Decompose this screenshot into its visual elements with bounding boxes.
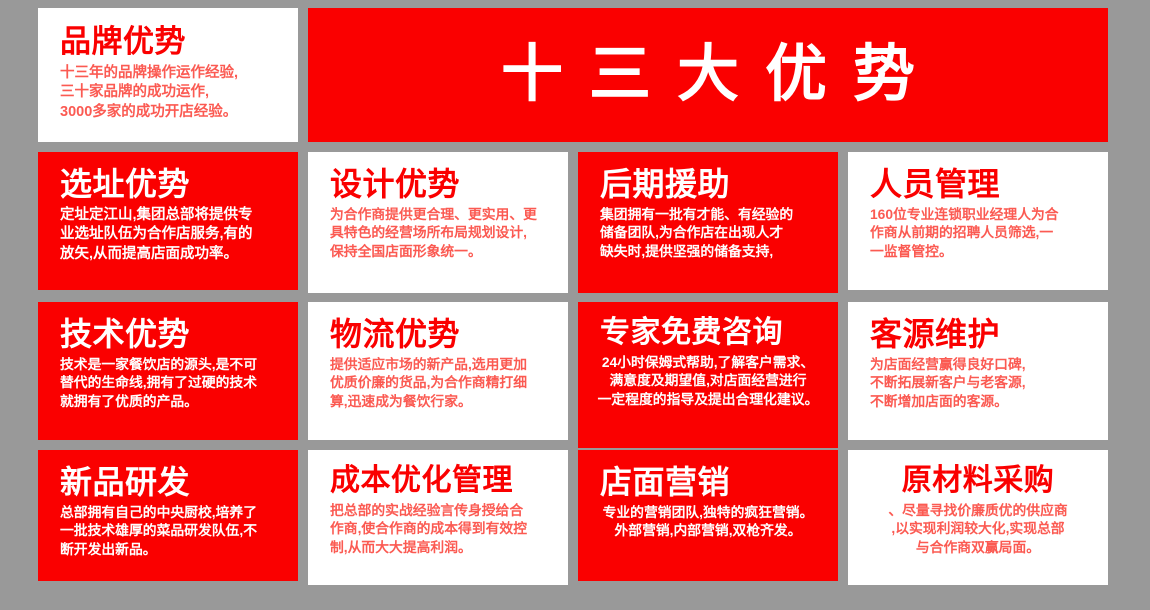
card-body: 集团拥有一批有才能、有经验的 储备团队,为合作店在出现人才 缺失时,提供坚强的储… [578,200,838,261]
card-body: 专业的营销团队,独特的疯狂营销。 外部营销,内部营销,双枪齐发。 [578,498,838,541]
main-banner: 十三大优势 [308,8,1108,142]
card-design-advantage: 设计优势 为合作商提供更合理、更实用、更 具特色的经营场所布局规划设计, 保持全… [308,152,568,293]
card-title: 成本优化管理 [308,450,568,496]
card-brand-advantage: 品牌优势 十三年的品牌操作运作经验, 三十家品牌的成功运作, 3000多家的成功… [38,8,298,142]
card-title: 技术优势 [38,302,298,350]
card-customer-retention: 客源维护 为店面经营赢得良好口碑, 不断拓展新客户与老客源, 不断增加店面的客源… [848,302,1108,440]
card-title: 后期援助 [578,152,838,200]
card-body: 总部拥有自己的中央厨校,培养了 一批技术雄厚的菜品研发队伍,不 断开发出新品。 [38,498,298,559]
card-store-marketing: 店面营销 专业的营销团队,独特的疯狂营销。 外部营销,内部营销,双枪齐发。 [578,450,838,581]
card-title: 店面营销 [578,450,838,498]
card-title: 原材料采购 [848,450,1108,496]
card-body: 为店面经营赢得良好口碑, 不断拓展新客户与老客源, 不断增加店面的客源。 [848,350,1108,411]
card-title: 专家免费咨询 [578,302,838,348]
card-body: 160位专业连锁职业经理人为合 作商从前期的招聘人员筛选,一 一监督管控。 [848,200,1108,261]
card-body: 24小时保姆式帮助,了解客户需求、 满意度及期望值,对店面经营进行 一定程度的指… [578,348,838,409]
card-title: 选址优势 [38,152,298,200]
card-body: 把总部的实战经验言传身授给合 作商,使合作商的成本得到有效控 制,从而大大提高利… [308,496,568,557]
card-title: 品牌优势 [38,8,298,57]
card-title: 新品研发 [38,450,298,498]
card-raw-material-procurement: 原材料采购 、尽量寻找价廉质优的供应商 ,以实现利润较大化,实现总部 与合作商双… [848,450,1108,585]
card-body: 技术是一家餐饮店的源头,是不可 替代的生命线,拥有了过硬的技术 就拥有了优质的产… [38,350,298,411]
card-title: 客源维护 [848,302,1108,350]
card-new-product-development: 新品研发 总部拥有自己的中央厨校,培养了 一批技术雄厚的菜品研发队伍,不 断开发… [38,450,298,581]
card-title: 物流优势 [308,302,568,350]
card-body: 、尽量寻找价廉质优的供应商 ,以实现利润较大化,实现总部 与合作商双赢局面。 [848,496,1108,557]
card-site-selection: 选址优势 定址定江山,集团总部将提供专 业选址队伍为合作店服务,有的 放矢,从而… [38,152,298,290]
card-body: 提供适应市场的新产品,选用更加 优质价廉的货品,为合作商精打细 算,迅速成为餐饮… [308,350,568,411]
card-body: 定址定江山,集团总部将提供专 业选址队伍为合作店服务,有的 放矢,从而提高店面成… [38,200,298,264]
card-cost-optimization-management: 成本优化管理 把总部的实战经验言传身授给合 作商,使合作商的成本得到有效控 制,… [308,450,568,585]
card-title: 设计优势 [308,152,568,200]
card-technology-advantage: 技术优势 技术是一家餐饮店的源头,是不可 替代的生命线,拥有了过硬的技术 就拥有… [38,302,298,440]
card-logistics-advantage: 物流优势 提供适应市场的新产品,选用更加 优质价廉的货品,为合作商精打细 算,迅… [308,302,568,440]
poster-canvas: 品牌优势 十三年的品牌操作运作经验, 三十家品牌的成功运作, 3000多家的成功… [0,0,1150,610]
banner-title: 十三大优势 [475,44,941,106]
card-title: 人员管理 [848,152,1108,200]
card-late-stage-support: 后期援助 集团拥有一批有才能、有经验的 储备团队,为合作店在出现人才 缺失时,提… [578,152,838,293]
card-expert-free-consultation: 专家免费咨询 24小时保姆式帮助,了解客户需求、 满意度及期望值,对店面经营进行… [578,302,838,448]
card-body: 为合作商提供更合理、更实用、更 具特色的经营场所布局规划设计, 保持全国店面形象… [308,200,568,261]
card-personnel-management: 人员管理 160位专业连锁职业经理人为合 作商从前期的招聘人员筛选,一 一监督管… [848,152,1108,290]
card-body: 十三年的品牌操作运作经验, 三十家品牌的成功运作, 3000多家的成功开店经验。 [38,57,298,122]
